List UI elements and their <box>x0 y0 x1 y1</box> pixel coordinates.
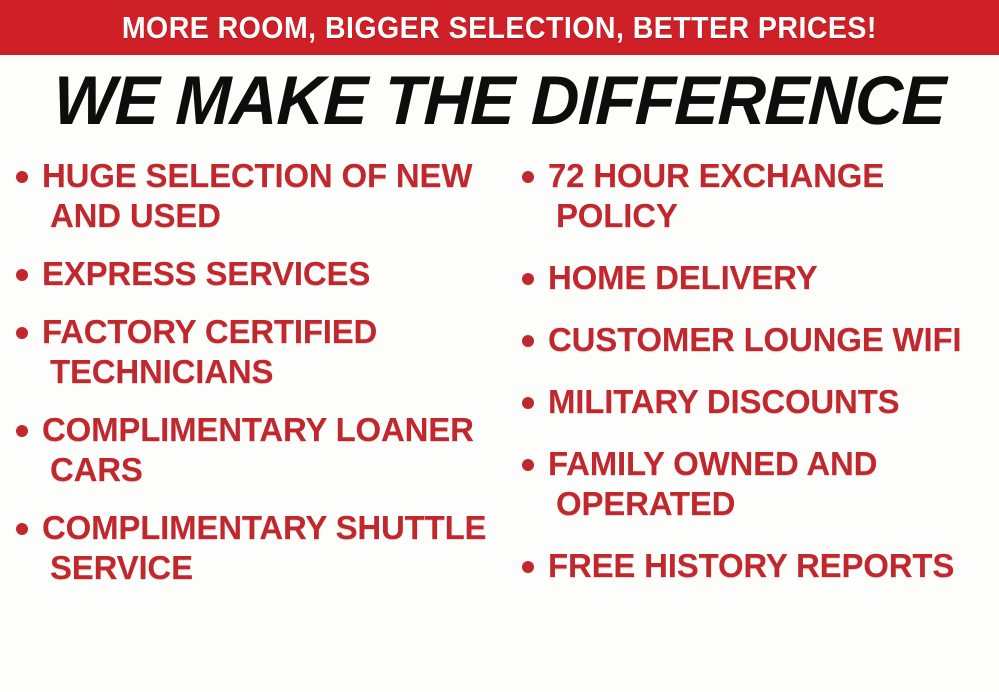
bullet-dot-icon <box>16 269 28 281</box>
bullet-dot-icon <box>16 327 28 339</box>
feature-item: FAMILY OWNED AND OPERATED <box>522 444 999 524</box>
promo-banner: MORE ROOM, BIGGER SELECTION, BETTER PRIC… <box>0 0 999 55</box>
bullet-dot-icon <box>16 523 28 535</box>
bullet-dot-icon <box>522 561 534 573</box>
bullet-dot-icon <box>16 425 28 437</box>
headline: WE MAKE THE DIFFERENCE <box>0 62 999 140</box>
feature-item: HUGE SELECTION OF NEW AND USED <box>16 156 508 236</box>
feature-label: FACTORY CERTIFIED TECHNICIANS <box>42 312 508 392</box>
feature-item: 72 HOUR EXCHANGE POLICY <box>522 156 999 236</box>
feature-label: HUGE SELECTION OF NEW AND USED <box>42 156 508 236</box>
feature-item: EXPRESS SERVICES <box>16 254 508 294</box>
feature-item: HOME DELIVERY <box>522 258 999 298</box>
feature-item: COMPLIMENTARY SHUTTLE SERVICE <box>16 508 508 588</box>
feature-label: CUSTOMER LOUNGE WIFI <box>548 320 961 360</box>
feature-column-left: HUGE SELECTION OF NEW AND USED EXPRESS S… <box>0 156 508 606</box>
bullet-dot-icon <box>16 171 28 183</box>
feature-label: FAMILY OWNED AND OPERATED <box>548 444 999 524</box>
promo-banner-text: MORE ROOM, BIGGER SELECTION, BETTER PRIC… <box>122 10 877 46</box>
feature-item: FREE HISTORY REPORTS <box>522 546 999 586</box>
bullet-dot-icon <box>522 273 534 285</box>
feature-column-right: 72 HOUR EXCHANGE POLICY HOME DELIVERY CU… <box>508 156 999 608</box>
feature-label: 72 HOUR EXCHANGE POLICY <box>548 156 999 236</box>
bullet-dot-icon <box>522 171 534 183</box>
feature-item: MILITARY DISCOUNTS <box>522 382 999 422</box>
bullet-dot-icon <box>522 335 534 347</box>
feature-item: CUSTOMER LOUNGE WIFI <box>522 320 999 360</box>
feature-label: COMPLIMENTARY SHUTTLE SERVICE <box>42 508 508 588</box>
bullet-dot-icon <box>522 459 534 471</box>
bullet-dot-icon <box>522 397 534 409</box>
feature-label: FREE HISTORY REPORTS <box>548 546 954 586</box>
feature-label: EXPRESS SERVICES <box>42 254 370 294</box>
feature-label: HOME DELIVERY <box>548 258 817 298</box>
headline-text: WE MAKE THE DIFFERENCE <box>52 62 946 140</box>
feature-item: FACTORY CERTIFIED TECHNICIANS <box>16 312 508 392</box>
features-section: HUGE SELECTION OF NEW AND USED EXPRESS S… <box>0 156 999 692</box>
feature-label: MILITARY DISCOUNTS <box>548 382 899 422</box>
feature-label: COMPLIMENTARY LOANER CARS <box>42 410 508 490</box>
feature-item: COMPLIMENTARY LOANER CARS <box>16 410 508 490</box>
